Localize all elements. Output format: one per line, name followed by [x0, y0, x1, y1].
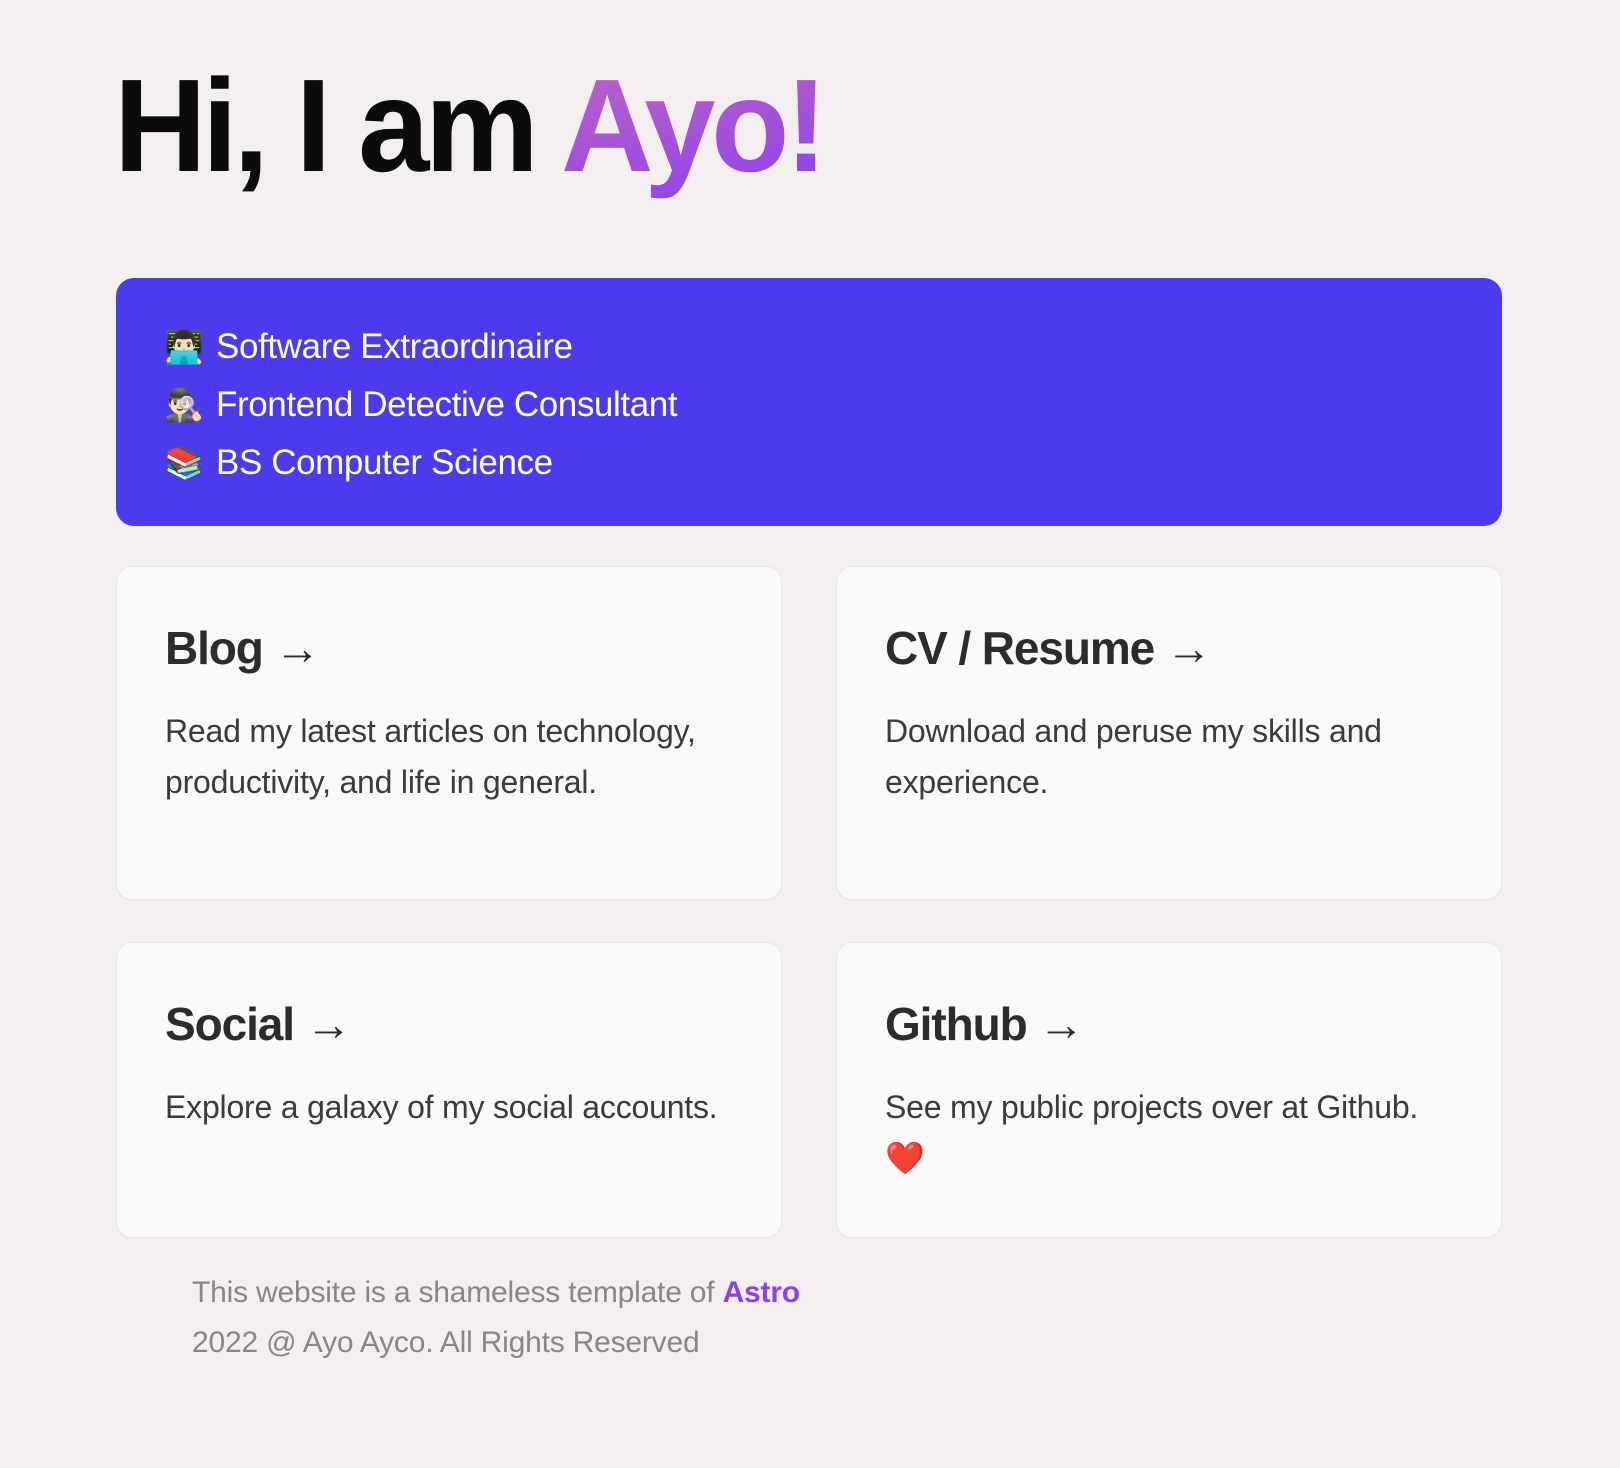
page-title-name: Ayo!: [561, 52, 823, 199]
card-description: Read my latest articles on technology, p…: [165, 706, 735, 808]
intro-banner-label: Frontend Detective Consultant: [216, 376, 677, 434]
page-title-greeting: Hi, I am: [114, 52, 561, 199]
card-title: Social →: [165, 999, 737, 1050]
list-item: 📚 BS Computer Science: [164, 434, 1502, 492]
arrow-right-icon: →: [275, 622, 320, 674]
card-description: Explore a galaxy of my social accounts.: [165, 1082, 735, 1133]
intro-banner: 👨🏻‍💻 Software Extraordinaire 🕵🏻‍♂️ Front…: [116, 278, 1502, 526]
footer-astro-link[interactable]: Astro: [723, 1276, 800, 1309]
footer: This website is a shameless template of …: [192, 1268, 800, 1368]
card-title-text: CV / Resume: [885, 622, 1154, 674]
arrow-right-icon: →: [1166, 622, 1211, 674]
card-title-text: Social: [165, 998, 294, 1050]
card-cv-resume[interactable]: CV / Resume → Download and peruse my ski…: [836, 566, 1502, 900]
list-item: 👨🏻‍💻 Software Extraordinaire: [164, 318, 1502, 376]
card-grid: Blog → Read my latest articles on techno…: [116, 566, 1502, 1238]
man-technologist-emoji: 👨🏻‍💻: [164, 318, 202, 376]
card-title-text: Github: [885, 998, 1027, 1050]
intro-banner-label: Software Extraordinaire: [216, 318, 573, 376]
card-blog[interactable]: Blog → Read my latest articles on techno…: [116, 566, 782, 900]
detective-emoji: 🕵🏻‍♂️: [164, 376, 202, 434]
intro-banner-list: 👨🏻‍💻 Software Extraordinaire 🕵🏻‍♂️ Front…: [164, 318, 1502, 492]
card-description: Download and peruse my skills and experi…: [885, 706, 1455, 808]
footer-credit-line: This website is a shameless template of …: [192, 1268, 800, 1318]
card-title: Blog →: [165, 623, 737, 674]
intro-banner-label: BS Computer Science: [216, 434, 553, 492]
card-github[interactable]: Github → See my public projects over at …: [836, 942, 1502, 1238]
footer-credit-prefix: This website is a shameless template of: [192, 1276, 723, 1309]
card-social[interactable]: Social → Explore a galaxy of my social a…: [116, 942, 782, 1238]
arrow-right-icon: →: [306, 998, 351, 1050]
list-item: 🕵🏻‍♂️ Frontend Detective Consultant: [164, 376, 1502, 434]
card-title-text: Blog: [165, 622, 263, 674]
card-title: Github →: [885, 999, 1457, 1050]
books-emoji: 📚: [164, 434, 202, 492]
arrow-right-icon: →: [1038, 998, 1083, 1050]
page-root: Hi, I am Ayo! 👨🏻‍💻 Software Extraordinai…: [0, 0, 1620, 1468]
footer-copyright-line: 2022 @ Ayo Ayco. All Rights Reserved: [192, 1318, 800, 1368]
card-description: See my public projects over at Github. ❤…: [885, 1082, 1455, 1184]
card-title: CV / Resume →: [885, 623, 1457, 674]
page-title: Hi, I am Ayo!: [114, 52, 823, 200]
